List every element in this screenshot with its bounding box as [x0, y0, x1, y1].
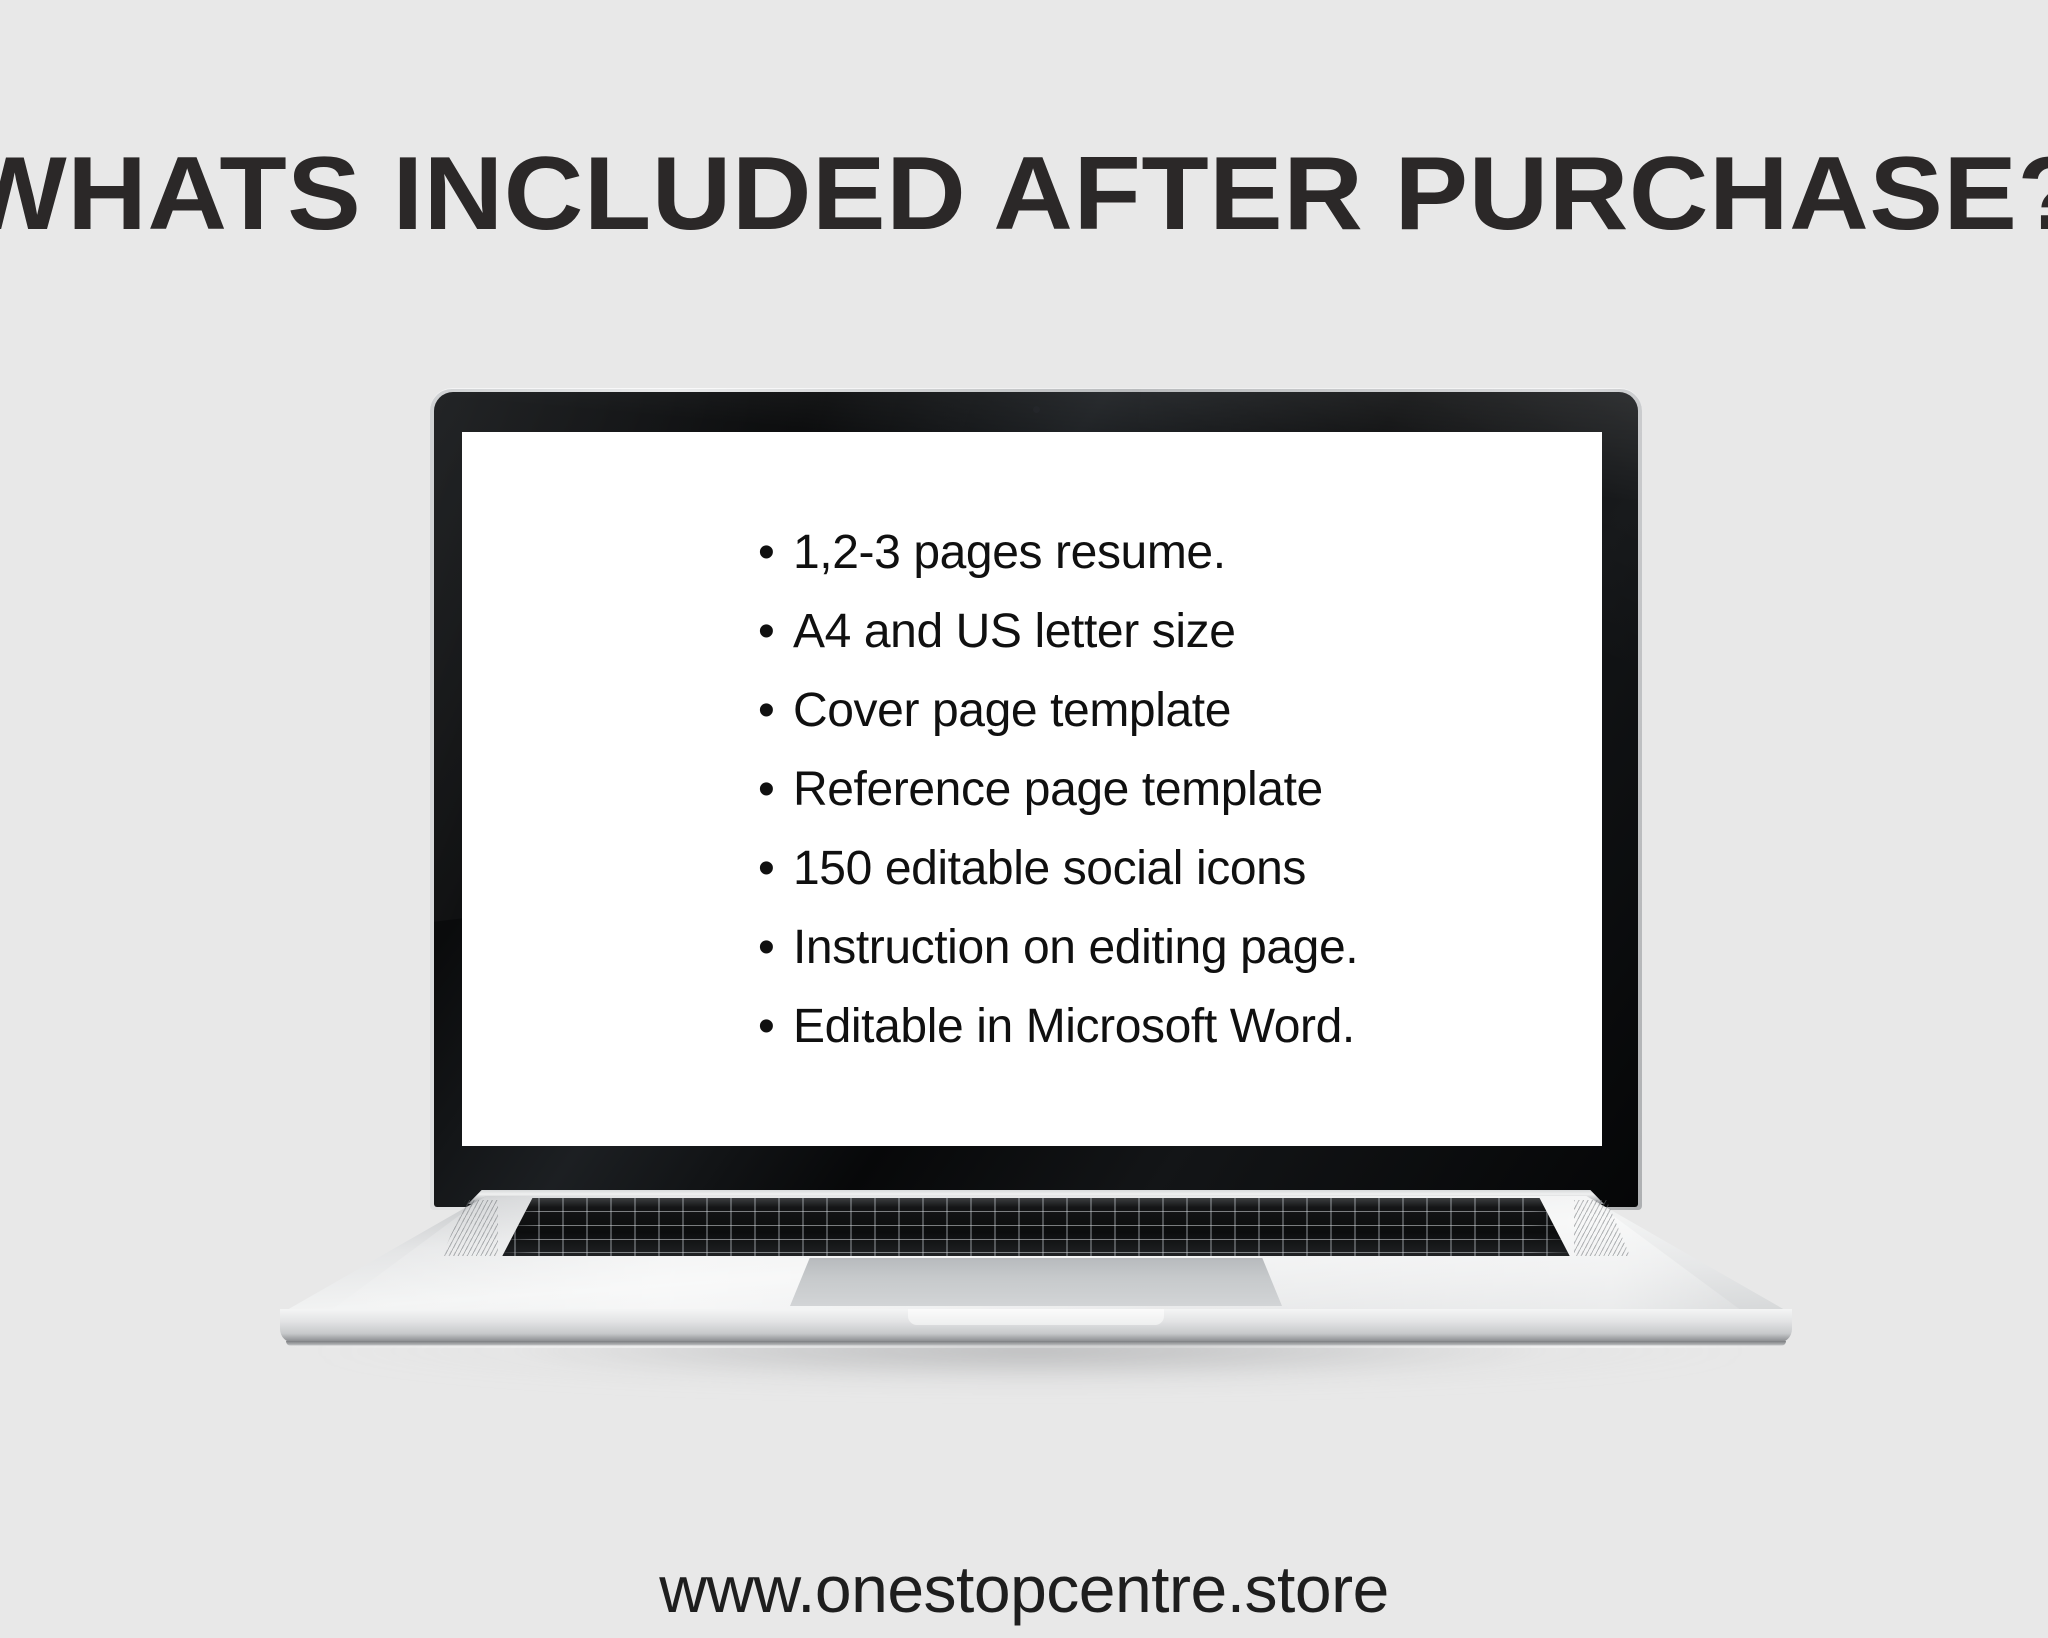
bullet-icon: •: [758, 987, 793, 1066]
key-row: [498, 1239, 1574, 1240]
webcam-icon: [1033, 406, 1040, 413]
laptop-screen: • 1,2-3 pages resume. • A4 and US letter…: [462, 432, 1602, 1146]
key-columns: [498, 1198, 1574, 1256]
bullet-icon: •: [758, 671, 793, 750]
page-title: WHATS INCLUDED AFTER PURCHASE?: [0, 142, 2048, 246]
list-item: • Reference page template: [758, 750, 1602, 829]
list-item-label: Reference page template: [793, 750, 1323, 829]
screen-content: • 1,2-3 pages resume. • A4 and US letter…: [462, 432, 1602, 1146]
list-item-label: A4 and US letter size: [793, 592, 1236, 671]
list-item: • Cover page template: [758, 671, 1602, 750]
laptop-base: [280, 1196, 1792, 1348]
bullet-icon: •: [758, 829, 793, 908]
list-item: • A4 and US letter size: [758, 592, 1602, 671]
list-item: • Editable in Microsoft Word.: [758, 987, 1602, 1066]
laptop-keyboard: [498, 1198, 1574, 1256]
key-row: [498, 1252, 1574, 1253]
list-item-label: 150 editable social icons: [793, 829, 1306, 908]
list-item: • 1,2-3 pages resume.: [758, 513, 1602, 592]
list-item-label: Editable in Microsoft Word.: [793, 987, 1355, 1066]
bullet-icon: •: [758, 513, 793, 592]
laptop-front-notch: [908, 1309, 1164, 1325]
list-item-label: Instruction on editing page.: [793, 908, 1358, 987]
list-item: • 150 editable social icons: [758, 829, 1602, 908]
key-row: [498, 1225, 1574, 1226]
list-item-label: 1,2-3 pages resume.: [793, 513, 1226, 592]
list-item: • Instruction on editing page.: [758, 908, 1602, 987]
bullet-icon: •: [758, 592, 793, 671]
laptop-trackpad: [790, 1258, 1282, 1306]
bullet-icon: •: [758, 750, 793, 829]
list-item-label: Cover page template: [793, 671, 1231, 750]
laptop-base-underside: [286, 1341, 1786, 1346]
key-row: [498, 1211, 1574, 1212]
included-items-list: • 1,2-3 pages resume. • A4 and US letter…: [462, 513, 1602, 1066]
footer-website-url: www.onestopcentre.store: [0, 1556, 2048, 1622]
bullet-icon: •: [758, 908, 793, 987]
